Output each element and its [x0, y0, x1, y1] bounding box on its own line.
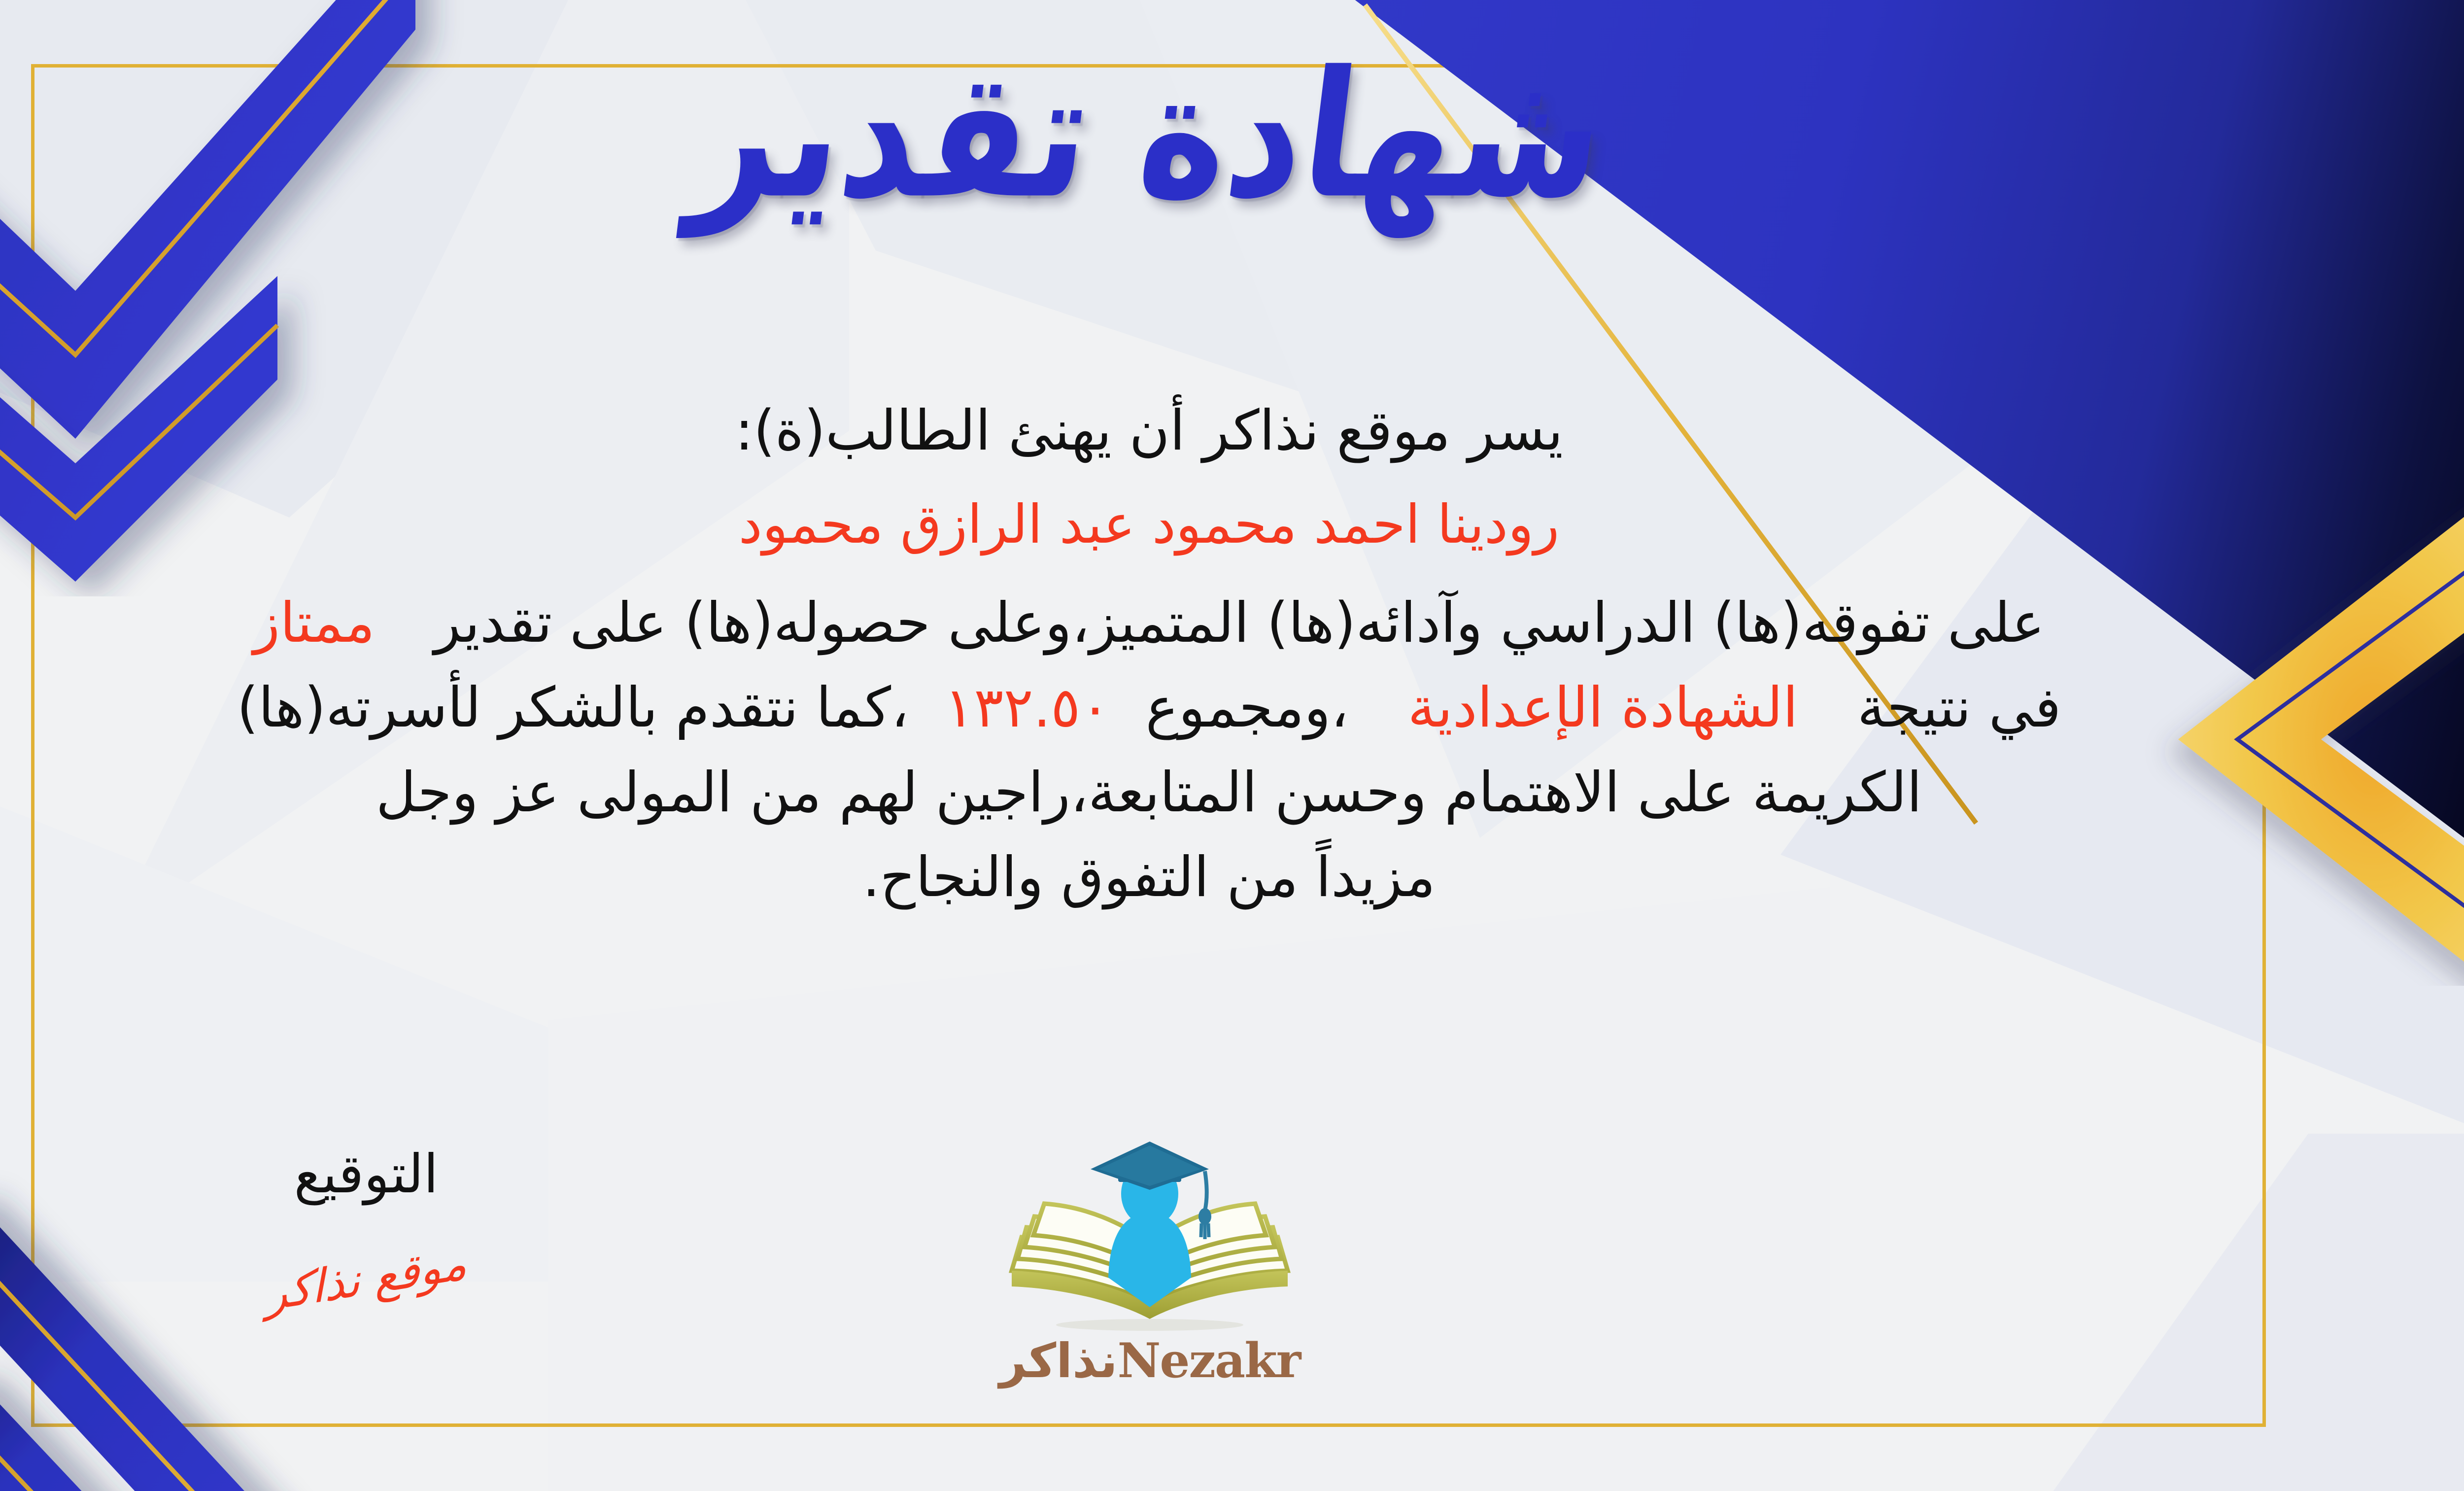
grade-value: ممتاز [253, 591, 375, 655]
result-prefix: في نتيجة [1857, 676, 2061, 740]
certificate-canvas: شهادة تقدير يسر موقع نذاكر أن يهنئ الطال… [0, 0, 2464, 1491]
brand-logo: Nezakrنذاكر [972, 1139, 1327, 1415]
wishes-line: مزيداً من التفوق والنجاح. [46, 836, 2252, 919]
brand-logo-text: Nezakrنذاكر [972, 1333, 1327, 1388]
graduate-book-logo-icon [992, 1139, 1307, 1336]
certificate-body: يسر موقع نذاكر أن يهنئ الطالب(ة): رودينا… [46, 389, 2252, 919]
student-name: رودينا احمد محمود عبد الرازق محمود [46, 485, 2252, 565]
achievement-line: على تفوقه(ها) الدراسي وآدائه(ها) المتميز… [46, 582, 2252, 664]
achievement-text: على تفوقه(ها) الدراسي وآدائه(ها) المتميز… [434, 591, 2045, 655]
brand-name-latin: Nezakr [1118, 1333, 1300, 1388]
thanks-line: الكريمة على الاهتمام وحسن المتابعة،راجين… [46, 751, 2252, 834]
congratulation-line: يسر موقع نذاكر أن يهنئ الطالب(ة): [46, 389, 2252, 472]
thanks-prefix: ،كما نتقدم بالشكر لأسرته(ها) [237, 676, 909, 740]
total-score-value: ١٣٢.٥٠ [944, 676, 1110, 740]
certificate-title: شهادة تقدير [0, 54, 2464, 217]
certificate-title-text: شهادة تقدير [683, 39, 1614, 231]
signature-area: التوقيع موقع نذاكر [213, 1144, 519, 1305]
total-label: ،ومجموع [1146, 676, 1349, 740]
signature-label: التوقيع [213, 1144, 519, 1205]
certificate-type-value: الشهادة الإعدادية [1408, 676, 1798, 740]
result-line: في نتيجةالشهادة الإعدادية،ومجموع١٣٢.٥٠،ك… [46, 666, 2252, 749]
brand-name-arabic: نذاكر [999, 1333, 1118, 1388]
